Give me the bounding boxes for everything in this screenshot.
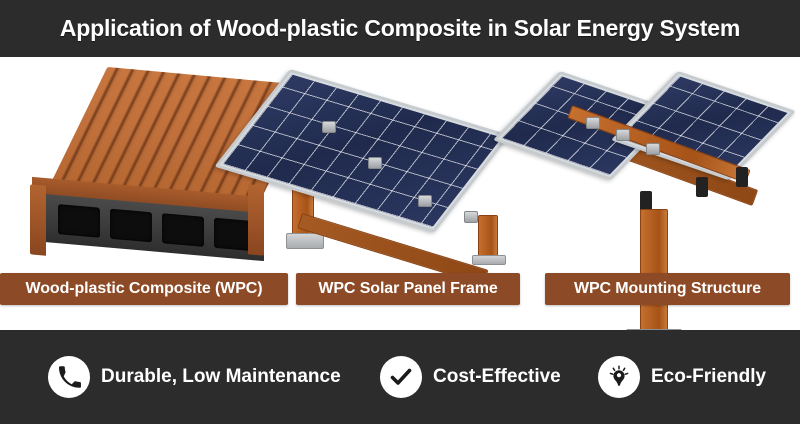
page-title: Application of Wood-plastic Composite in… <box>60 15 740 42</box>
panel-clamp <box>322 121 336 133</box>
lightbulb-icon <box>598 356 640 398</box>
mount-support-block <box>736 167 748 187</box>
frame-rear-base-plate <box>472 255 506 265</box>
header-bar: Application of Wood-plastic Composite in… <box>0 0 800 57</box>
feature-label: Eco-Friendly <box>651 366 766 388</box>
board-chamber <box>162 213 204 247</box>
wpc-solar-panel-frame-image <box>282 65 517 265</box>
board-end-cap-left <box>30 184 46 255</box>
caption-label: WPC Solar Panel Frame <box>318 280 497 298</box>
panel-clamp <box>586 117 600 129</box>
feature-durable-low-maintenance: Durable, Low Maintenance <box>48 356 341 398</box>
board-end-cap-right <box>248 184 264 255</box>
checkmark-icon <box>380 356 422 398</box>
mount-support-block <box>696 177 708 197</box>
caption-label: Wood-plastic Composite (WPC) <box>26 280 263 298</box>
poster: Application of Wood-plastic Composite in… <box>0 0 800 424</box>
caption-wpc-solar-panel-frame: WPC Solar Panel Frame <box>296 273 520 305</box>
phone-icon <box>48 356 90 398</box>
panel-clamp <box>616 129 630 141</box>
panel-clamp <box>646 143 660 155</box>
wpc-mounting-structure-image <box>540 57 790 272</box>
panel-clamp <box>368 157 382 169</box>
caption-wpc-mounting-structure: WPC Mounting Structure <box>545 273 790 305</box>
caption-label: WPC Mounting Structure <box>574 280 761 298</box>
board-chamber <box>110 209 152 243</box>
panel-clamp <box>418 195 432 207</box>
frame-rear-post <box>478 215 498 259</box>
feature-eco-friendly: Eco-Friendly <box>598 356 766 398</box>
feature-cost-effective: Cost-Effective <box>380 356 561 398</box>
panel-clamp <box>464 211 478 223</box>
footer-bar: Durable, Low Maintenance Cost-Effective <box>0 330 800 424</box>
feature-label: Cost-Effective <box>433 366 561 388</box>
mount-support-block <box>640 191 652 211</box>
board-chamber <box>58 204 100 238</box>
caption-row: Wood-plastic Composite (WPC) WPC Solar P… <box>0 273 800 305</box>
caption-wood-plastic-composite: Wood-plastic Composite (WPC) <box>0 273 288 305</box>
frame-base-plate <box>286 233 324 249</box>
feature-label: Durable, Low Maintenance <box>101 366 341 388</box>
